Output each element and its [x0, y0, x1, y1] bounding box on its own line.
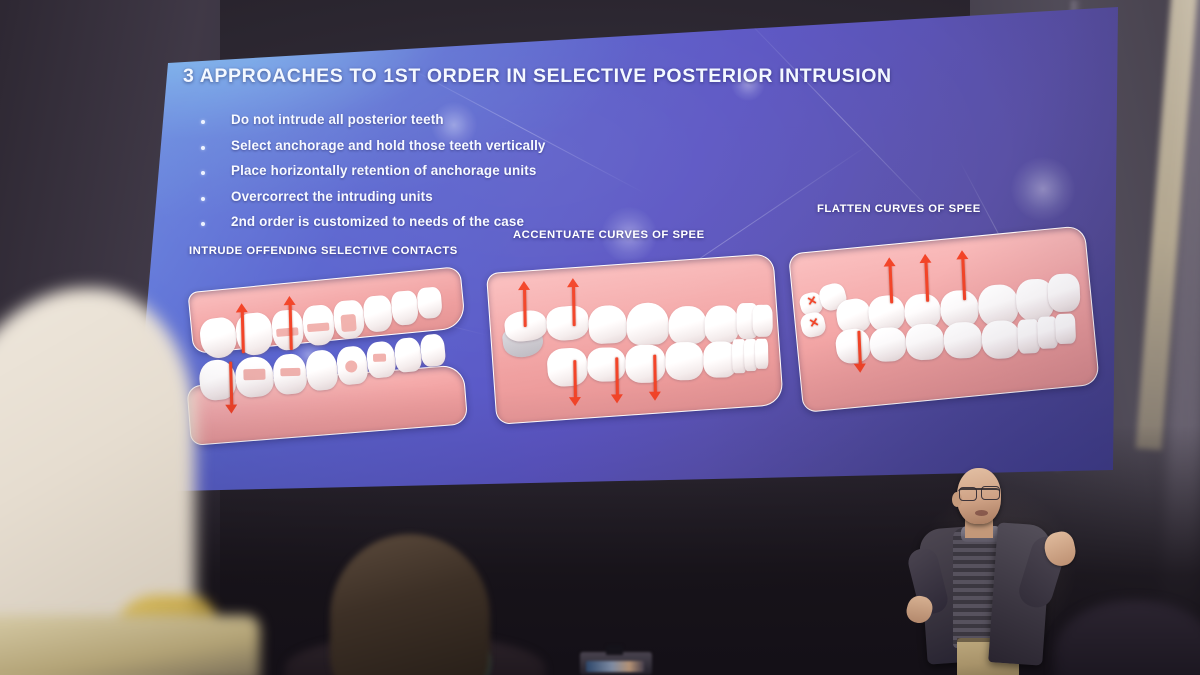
foreground-table: [0, 615, 260, 675]
slide-canvas: 3 APPROACHES TO 1ST ORDER IN SELECTIVE P…: [131, 7, 1121, 499]
camera-lens-icon: [606, 645, 623, 655]
camera-device: [580, 652, 652, 675]
presentation-photo: 3 APPROACHES TO 1ST ORDER IN SELECTIVE P…: [0, 0, 1200, 675]
camera-screen: [586, 661, 644, 672]
eyeglasses-bridge: [958, 488, 1000, 500]
slide-vignette: [131, 7, 1121, 499]
mouth: [975, 510, 988, 516]
